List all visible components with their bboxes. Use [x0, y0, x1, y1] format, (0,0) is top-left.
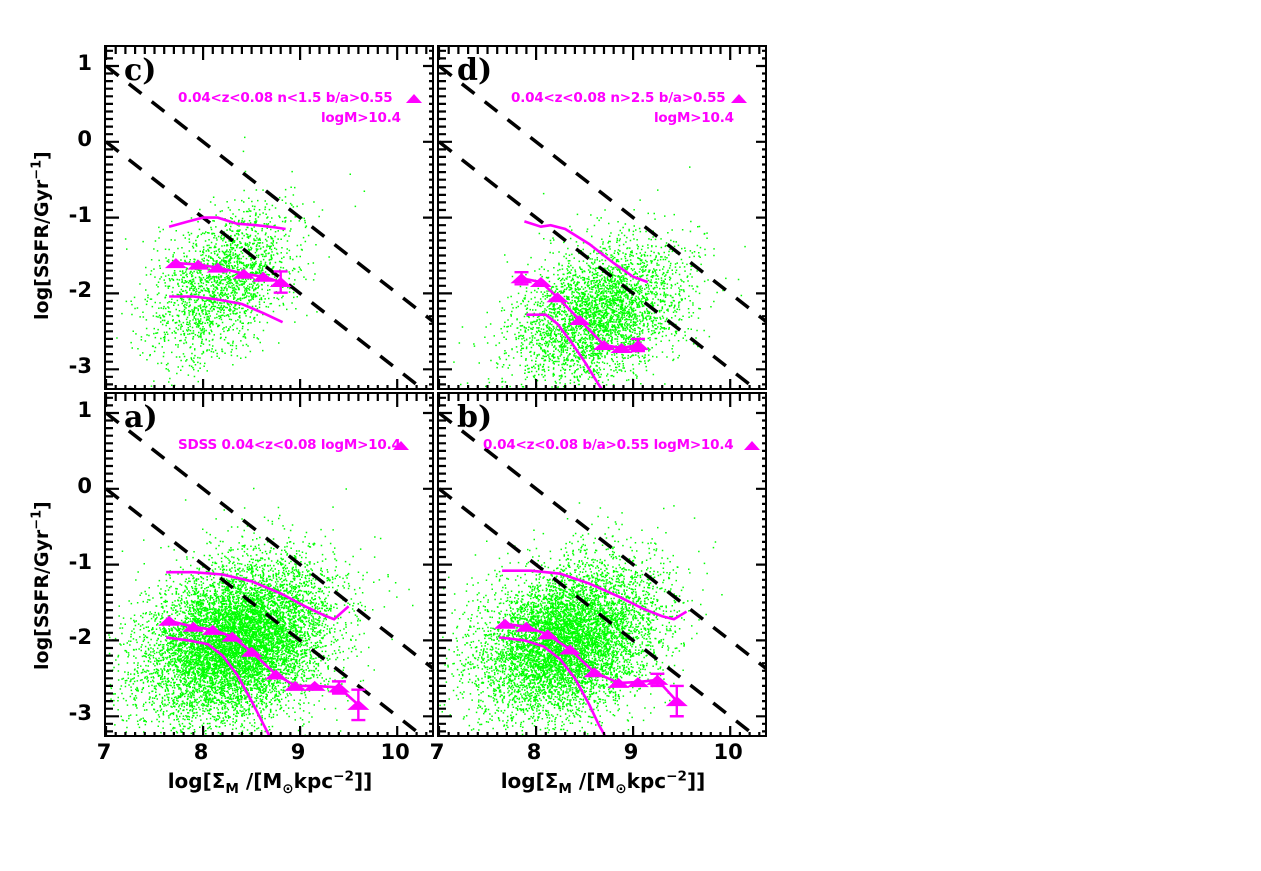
x-tick-label-right-origin: 7 [417, 740, 457, 764]
panel-label-a: a) [124, 400, 158, 435]
scatter-points-d [453, 166, 746, 390]
panel-c: c)0.04<z<0.08 n<1.5 b/a>0.55logM>10.4 [104, 45, 434, 390]
scatter-points-c [116, 137, 365, 387]
x-tick-label-right-3: 10 [708, 740, 748, 764]
y-tick-label-bottom-4: -3 [48, 701, 92, 725]
panel-b: b)0.04<z<0.08 b/a>0.55 logM>10.4 [437, 392, 767, 737]
figure-canvas: log[SSFR/Gyr−1] log[SSFR/Gyr−1] log[ΣM /… [0, 0, 1261, 871]
legend-triangle-d [731, 94, 747, 103]
x-tick-label-right-1: 8 [514, 740, 554, 764]
panel-label-d: d) [457, 53, 492, 88]
x-axis-title-right: log[ΣM /[M⊙kpc−2]] [443, 768, 763, 797]
curve-lower-percentile-c [169, 297, 283, 323]
median-triangle-d [546, 292, 568, 302]
annotation-second-line-c: logM>10.4 [321, 110, 401, 126]
x-tick-label-left-2: 9 [278, 740, 318, 764]
median-triangle-d [511, 273, 533, 283]
panel-a: a)SDSS 0.04<z<0.08 logM>10.4 [104, 392, 434, 737]
legend-triangle-b [744, 441, 760, 450]
annotation-c: 0.04<z<0.08 n<1.5 b/a>0.55 [178, 90, 392, 106]
median-triangle-d [530, 277, 552, 287]
panel-d: d)0.04<z<0.08 n>2.5 b/a>0.55logM>10.4 [437, 45, 767, 390]
y-tick-label-bottom-1: 0 [48, 474, 92, 498]
y-tick-label-top-2: -1 [48, 203, 92, 227]
x-tick-label-left-1: 8 [181, 740, 221, 764]
annotation-d: 0.04<z<0.08 n>2.5 b/a>0.55 [511, 90, 725, 106]
panel-label-b: b) [457, 400, 492, 435]
x-axis-title-left: log[ΣM /[M⊙kpc−2]] [110, 768, 430, 797]
x-tick-label-left-0: 7 [84, 740, 124, 764]
dashed-line-lower-c [106, 142, 434, 390]
y-tick-label-bottom-2: -1 [48, 550, 92, 574]
annotation-second-line-d: logM>10.4 [654, 110, 734, 126]
dashed-line-lower-d [439, 142, 767, 390]
x-tick-label-right-2: 9 [611, 740, 651, 764]
x-tick-label-left-3: 10 [375, 740, 415, 764]
annotation-a: SDSS 0.04<z<0.08 logM>10.4 [178, 437, 401, 453]
y-tick-label-top-0: 1 [48, 51, 92, 75]
y-tick-label-top-4: -3 [48, 354, 92, 378]
y-tick-label-top-3: -2 [48, 278, 92, 302]
legend-triangle-a [393, 441, 409, 450]
panel-label-c: c) [124, 53, 156, 88]
y-tick-label-bottom-0: 1 [48, 398, 92, 422]
y-tick-label-top-1: 0 [48, 127, 92, 151]
legend-triangle-c [406, 94, 422, 103]
annotation-b: 0.04<z<0.08 b/a>0.55 logM>10.4 [483, 437, 733, 453]
y-tick-label-bottom-3: -2 [48, 625, 92, 649]
median-triangle-a [347, 700, 369, 710]
